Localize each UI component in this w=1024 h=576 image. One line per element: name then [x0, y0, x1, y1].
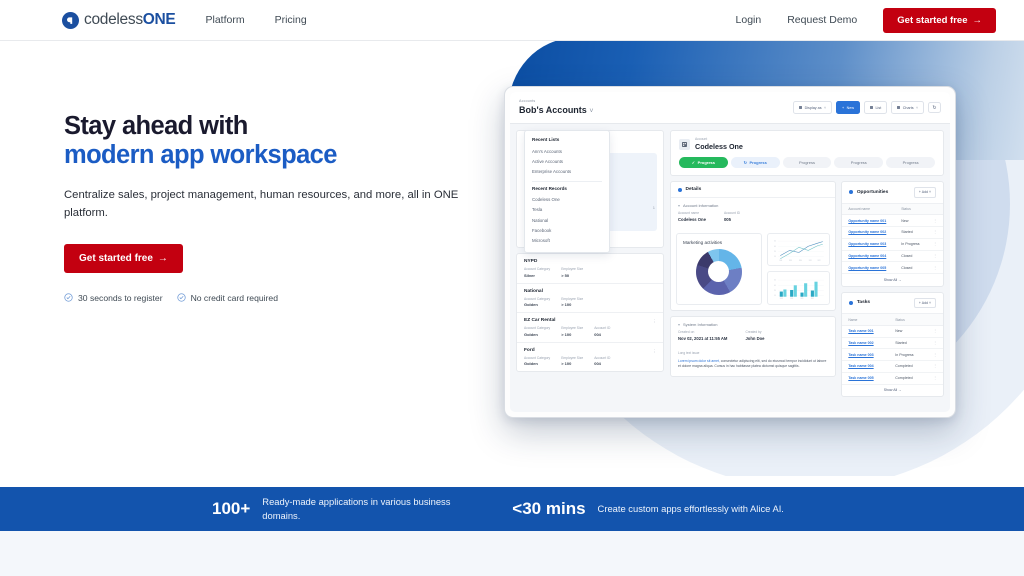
donut-chart: [696, 249, 742, 295]
svg-text:2019: 2019: [779, 298, 782, 300]
svg-text:2022: 2022: [817, 259, 820, 261]
table-row[interactable]: ⋮ Ford Account CategoryGolden Employee S…: [517, 343, 663, 372]
chevron-down-icon: ˅: [824, 106, 826, 110]
hero-cta-label: Get started free: [79, 253, 153, 264]
recent-record-item[interactable]: Microsoft: [532, 235, 602, 245]
opportunity-status: In Progress: [895, 238, 927, 250]
field-account-id: Account ID005: [724, 211, 740, 222]
svg-text:40: 40: [774, 245, 776, 247]
tasks-card: Tasks + Add ˅ Name Status Task name 001N…: [841, 292, 944, 398]
account-header: Account Codeless One: [671, 131, 943, 151]
refresh-icon: ↻: [932, 105, 936, 111]
tasks-title: Tasks: [857, 300, 870, 305]
section-label: System Information: [683, 322, 717, 327]
stage-label: Progress: [903, 160, 919, 165]
details-card: Details ▾ Account information Account na…: [670, 181, 836, 311]
row-menu-icon[interactable]: ⋮: [927, 349, 943, 361]
mockup-display-as-button[interactable]: Display as˅: [793, 101, 832, 114]
login-link[interactable]: Login: [736, 14, 762, 26]
stage-label: Progress: [749, 160, 766, 165]
header-get-started-button[interactable]: Get started free →: [883, 8, 996, 33]
opportunity-status: Closed: [895, 250, 927, 262]
record-field: Account ID004: [594, 356, 610, 367]
recent-record-item[interactable]: Codeless One: [532, 195, 602, 205]
chevron-down-icon: ▾: [678, 322, 680, 327]
marketing-activities-card: Marketing activities: [676, 233, 762, 306]
stage-pill-1[interactable]: ✓Progress: [679, 157, 728, 168]
field-label: Account ID: [594, 326, 610, 330]
mockup-left-column: 1 Recent Lists Ann's Accounts Active Acc…: [516, 130, 664, 406]
table-row[interactable]: Task name 002Started⋮: [842, 337, 943, 349]
page-title: Stay ahead with modern app workspace: [64, 112, 474, 169]
table-row[interactable]: Opportunity name 003In Progress⋮: [842, 238, 943, 250]
field-value: Nov 02, 2021 at 11:55 AM: [678, 336, 727, 341]
progress-stage-row: ✓Progress ↻Progress Progress Progress Pr…: [671, 151, 943, 175]
table-row[interactable]: Task name 003In Progress⋮: [842, 349, 943, 361]
charts-label: Charts: [903, 106, 914, 110]
logo[interactable]: codelessONE: [62, 11, 175, 29]
svg-text:2018: 2018: [779, 259, 782, 261]
opportunities-icon: [849, 190, 853, 194]
field-account-name: Account nameCodeless One: [678, 211, 706, 222]
chevron-down-icon: ▾: [678, 203, 680, 208]
chevron-down-icon: ˅: [589, 108, 593, 115]
field-label: Employee Size: [561, 267, 583, 271]
record-field: Employee Size> 100: [561, 297, 583, 308]
field-label: Account Category: [524, 297, 550, 301]
field-value: Codeless One: [678, 217, 706, 222]
marketing-charts-zone: Marketing activities: [671, 228, 835, 311]
tasks-show-all[interactable]: Show All →: [842, 385, 943, 397]
account-eyebrow: Account: [695, 137, 743, 141]
task-name[interactable]: Task name 001: [842, 325, 889, 337]
task-name[interactable]: Task name 002: [842, 337, 889, 349]
system-information-card: ▾ System Information Created onNov 02, 2…: [670, 316, 836, 377]
opportunities-show-all[interactable]: Show All →: [842, 274, 943, 286]
badge-register-time-label: 30 seconds to register: [78, 293, 163, 303]
field-value: Golden: [524, 302, 550, 307]
account-title-block: Account Codeless One: [695, 137, 743, 151]
svg-text:20: 20: [774, 250, 776, 252]
recent-lists-title: Recent Lists: [532, 137, 602, 142]
mockup-topbar: Accounts Bob's Accounts ˅ Display as˅ +N…: [510, 92, 950, 124]
stat-build-time-description: Create custom apps effortlessly with Ali…: [598, 502, 784, 516]
long-text-highlight: Lorem ipsum dolor sit amet,: [678, 359, 720, 363]
mockup-right-column: Account Codeless One ✓Progress ↻Progress…: [670, 130, 944, 406]
add-label: + Add: [919, 190, 928, 194]
opportunity-name[interactable]: Opportunity name 003: [842, 238, 895, 250]
stat-applications-description: Ready-made applications in various busin…: [262, 495, 452, 522]
task-status: Completed: [889, 372, 927, 384]
table-header-row: Name Status: [842, 314, 943, 325]
mockup-list-button[interactable]: List: [864, 101, 887, 114]
new-label: New: [847, 106, 854, 110]
record-field: Account CategoryGolden: [524, 297, 550, 308]
recent-record-item[interactable]: National: [532, 215, 602, 225]
refresh-icon: ↻: [744, 160, 747, 165]
stat-build-time-value: <30 mins: [512, 499, 585, 519]
stat-applications: 100+ Ready-made applications in various …: [212, 495, 452, 522]
field-label: Created on: [678, 330, 727, 334]
field-label: Account Category: [524, 356, 550, 360]
field-created-on: Created onNov 02, 2021 at 11:55 AM: [678, 330, 727, 341]
request-demo-link[interactable]: Request Demo: [787, 14, 857, 26]
table-row[interactable]: National Account CategoryGolden Employee…: [517, 284, 663, 314]
record-field: Account CategoryGolden: [524, 326, 550, 337]
table-row[interactable]: Task name 004Completed⋮: [842, 361, 943, 373]
field-value: > 100: [561, 361, 583, 366]
row-menu-icon[interactable]: ⋮: [927, 215, 943, 227]
table-row[interactable]: Opportunity name 001New⋮: [842, 215, 943, 227]
mockup-breadcrumb: Accounts Bob's Accounts ˅: [519, 100, 593, 115]
check-icon: ✓: [692, 160, 695, 165]
svg-text:10: 10: [774, 256, 776, 258]
recent-list-item[interactable]: Ann's Accounts: [532, 146, 602, 156]
table-row[interactable]: Task name 005Completed⋮: [842, 372, 943, 384]
related-lists-pane: Opportunities + Add ˅ Account name Statu…: [841, 181, 944, 406]
field-value: > 100: [561, 302, 583, 307]
account-detail-card: Account Codeless One ✓Progress ↻Progress…: [670, 130, 944, 176]
site-header: codelessONE Platform Pricing Login Reque…: [0, 0, 1024, 41]
add-label: + Add: [919, 301, 928, 305]
column-header-menu: [927, 314, 943, 325]
svg-text:2020: 2020: [790, 298, 793, 300]
system-information-section[interactable]: ▾ System Information: [671, 317, 835, 330]
tab-details[interactable]: Details: [686, 187, 702, 192]
placeholder-wash: [605, 153, 657, 231]
opportunities-title: Opportunities: [857, 190, 888, 195]
logo-text-light: codeless: [84, 11, 143, 28]
badge-no-credit-card: No credit card required: [177, 293, 278, 303]
task-name[interactable]: Task name 004: [842, 361, 889, 373]
chevron-down-icon: ˅: [916, 106, 918, 110]
nav-item-pricing[interactable]: Pricing: [275, 14, 307, 26]
details-pane: Details ▾ Account information Account na…: [670, 181, 836, 406]
arrow-right-icon: →: [158, 253, 168, 264]
field-label: Employee Size: [561, 297, 583, 301]
hero-heading-line2: modern app workspace: [64, 141, 474, 170]
field-value: 004: [594, 361, 610, 366]
field-value: Silver: [524, 273, 550, 278]
account-records-list: NYPD Account CategorySilver Employee Siz…: [516, 253, 664, 372]
recent-record-item[interactable]: Facebook: [532, 225, 602, 235]
row-menu-icon[interactable]: ⋮: [927, 361, 943, 373]
field-value: > 100: [561, 332, 583, 337]
long-text-label: Long text issue: [678, 351, 828, 355]
logo-text-bold: ONE: [143, 11, 176, 28]
opportunity-status: Closed: [895, 262, 927, 274]
record-field: Account CategorySilver: [524, 267, 550, 278]
marketing-activities-title: Marketing activities: [683, 240, 755, 245]
opportunity-name[interactable]: Opportunity name 005: [842, 262, 895, 274]
line-chart-card: 50402010 20182019202020212022: [767, 233, 831, 267]
table-row[interactable]: Opportunity name 005Closed⋮: [842, 262, 943, 274]
tasks-header: Tasks + Add ˅: [842, 293, 943, 315]
field-label: Account ID: [724, 211, 740, 215]
record-field: Account ID004: [594, 326, 610, 337]
column-header-menu: [927, 204, 943, 215]
field-value: 005: [724, 217, 740, 222]
hero-subtitle: Centralize sales, project management, hu…: [64, 186, 464, 223]
table-header-row: Account name Status: [842, 204, 943, 215]
check-circle-icon: [64, 293, 73, 302]
list-icon: [870, 106, 873, 109]
mockup-body: 1 Recent Lists Ann's Accounts Active Acc…: [510, 124, 950, 412]
mockup-title-text: Bob's Accounts: [519, 105, 587, 115]
field-label: Account name: [678, 211, 706, 215]
task-name[interactable]: Task name 005: [842, 372, 889, 384]
chevron-down-icon: ˅: [929, 301, 931, 305]
recent-records-title: Recent Records: [532, 186, 602, 191]
svg-text:2021: 2021: [808, 259, 811, 261]
record-name: Ford: [524, 348, 656, 353]
details-bullet-icon: [678, 188, 682, 192]
details-header: Details: [671, 182, 835, 198]
divider: [532, 181, 602, 182]
table-row[interactable]: Opportunity name 002Started⋮: [842, 226, 943, 238]
record-field: Employee Size> 100: [561, 326, 583, 337]
svg-text:20: 20: [774, 290, 776, 292]
plus-icon: +: [842, 106, 844, 110]
record-field: Employee Size> 100: [561, 356, 583, 367]
field-label: Employee Size: [561, 326, 583, 330]
svg-text:2021: 2021: [800, 298, 803, 300]
mini-charts-column: 50402010 20182019202020212022: [767, 233, 831, 306]
record-name: NYPD: [524, 259, 656, 264]
account-information-section[interactable]: ▾ Account information: [671, 198, 835, 211]
stage-pill-3[interactable]: Progress: [783, 157, 832, 168]
hero-get-started-button[interactable]: Get started free →: [64, 244, 183, 273]
line-chart: 50402010 20182019202020212022: [773, 238, 825, 262]
stat-build-time: <30 mins Create custom apps effortlessly…: [512, 499, 784, 519]
account-building-icon: [679, 139, 690, 150]
tasks-icon: [849, 301, 853, 305]
task-status: In Progress: [889, 349, 927, 361]
record-name: National: [524, 289, 656, 294]
opportunity-name[interactable]: Opportunity name 001: [842, 215, 895, 227]
recent-dropdown-panel: Recent Lists Ann's Accounts Active Accou…: [524, 130, 610, 253]
header-cta-label: Get started free: [897, 15, 967, 26]
field-value: 004: [594, 332, 610, 337]
badge-register-time: 30 seconds to register: [64, 293, 163, 303]
recent-list-item[interactable]: Enterprise Accounts: [532, 166, 602, 176]
stage-label: Progress: [698, 160, 715, 165]
table-row[interactable]: NYPD Account CategorySilver Employee Siz…: [517, 254, 663, 284]
logo-text: codelessONE: [84, 11, 175, 29]
table-row[interactable]: Task name 001New⋮: [842, 325, 943, 337]
task-status: Completed: [889, 361, 927, 373]
header-actions: Login Request Demo Get started free →: [736, 8, 996, 33]
check-circle-icon: [177, 293, 186, 302]
field-label: Created by: [745, 330, 764, 334]
opportunities-add-button[interactable]: + Add ˅: [914, 187, 936, 198]
field-label: Account Category: [524, 326, 550, 330]
row-menu-icon[interactable]: ⋮: [927, 337, 943, 349]
app-screenshot-mockup: Accounts Bob's Accounts ˅ Display as˅ +N…: [504, 86, 956, 418]
bar-chart: 50402010: [773, 276, 825, 300]
tasks-add-button[interactable]: + Add ˅: [914, 298, 936, 309]
mockup-toolbar: Display as˅ +New List Charts˅ ↻: [793, 101, 941, 114]
table-row[interactable]: Opportunity name 004Closed⋮: [842, 250, 943, 262]
chevron-down-icon: ˅: [929, 190, 931, 194]
display-as-label: Display as: [805, 106, 822, 110]
hero-badges: 30 seconds to register No credit card re…: [64, 293, 474, 303]
column-header-status: Status: [889, 314, 927, 325]
arrow-right-icon: →: [973, 15, 983, 26]
stage-pill-4[interactable]: Progress: [834, 157, 883, 168]
task-name[interactable]: Task name 003: [842, 349, 889, 361]
row-menu-icon[interactable]: ⋮: [927, 226, 943, 238]
primary-nav: Platform Pricing: [205, 14, 306, 26]
field-value: Golden: [524, 332, 550, 337]
hero-section: Stay ahead with modern app workspace Cen…: [64, 112, 474, 303]
row-menu-icon[interactable]: ⋮: [927, 262, 943, 274]
row-menu-icon[interactable]: ⋮: [653, 349, 658, 355]
recent-record-item[interactable]: Tesla: [532, 205, 602, 215]
svg-text:40: 40: [774, 285, 776, 287]
svg-text:2022: 2022: [810, 298, 813, 300]
codeless-logo-mark-icon: [62, 12, 79, 29]
field-created-by: Created byJohn Doe: [745, 330, 764, 341]
field-value: Golden: [524, 361, 550, 366]
task-status: Started: [889, 337, 927, 349]
column-header-name: Account name: [842, 204, 895, 215]
stats-bar: 100+ Ready-made applications in various …: [0, 487, 1024, 531]
grid-icon: [799, 106, 802, 109]
row-menu-icon[interactable]: ⋮: [927, 372, 943, 384]
opportunities-card: Opportunities + Add ˅ Account name Statu…: [841, 181, 944, 287]
opportunity-name[interactable]: Opportunity name 004: [842, 250, 895, 262]
long-text-block: Long text issue Lorem ipsum dolor sit am…: [671, 351, 835, 376]
row-menu-icon[interactable]: ⋮: [927, 325, 943, 337]
stage-pill-2[interactable]: ↻Progress: [731, 157, 780, 168]
mockup-panes: Details ▾ Account information Account na…: [670, 181, 944, 406]
row-menu-icon[interactable]: ⋮: [927, 238, 943, 250]
svg-text:2019: 2019: [789, 259, 792, 261]
account-information-fields: Account nameCodeless One Account ID005: [671, 211, 835, 228]
field-label: Account ID: [594, 356, 610, 360]
mockup-breadcrumb-title: Bob's Accounts ˅: [519, 106, 593, 115]
svg-text:10: 10: [774, 296, 776, 298]
field-value: John Doe: [745, 336, 764, 341]
nav-item-platform[interactable]: Platform: [205, 14, 244, 26]
chart-icon: [897, 106, 900, 109]
page-footer-strip: [0, 531, 1024, 576]
row-menu-icon[interactable]: ⋮: [927, 250, 943, 262]
record-field: Account CategoryGolden: [524, 356, 550, 367]
section-label: Account information: [683, 203, 718, 208]
opportunities-header: Opportunities + Add ˅: [842, 182, 943, 204]
list-label: List: [876, 106, 882, 110]
opportunities-table: Account name Status Opportunity name 001…: [842, 204, 943, 274]
row-menu-icon[interactable]: ⋮: [653, 319, 658, 325]
stage-label: Progress: [851, 160, 867, 165]
column-header-status: Status: [895, 204, 927, 215]
column-header-name: Name: [842, 314, 889, 325]
mockup-charts-button[interactable]: Charts˅: [891, 101, 924, 114]
mockup-new-button[interactable]: +New: [836, 101, 860, 114]
svg-text:50: 50: [774, 280, 776, 282]
svg-text:2020: 2020: [798, 259, 801, 261]
field-value: > 50: [561, 273, 583, 278]
recent-list-item[interactable]: Active Accounts: [532, 156, 602, 166]
mockup-breadcrumb-eyebrow: Accounts: [519, 100, 593, 104]
stage-pill-5[interactable]: Progress: [886, 157, 935, 168]
record-field: Employee Size> 50: [561, 267, 583, 278]
tasks-table: Name Status Task name 001New⋮ Task name …: [842, 314, 943, 384]
mockup-refresh-button[interactable]: ↻: [928, 102, 941, 113]
badge-no-credit-card-label: No credit card required: [191, 293, 278, 303]
bar-chart-card: 50402010: [767, 271, 831, 305]
field-label: Account Category: [524, 267, 550, 271]
opportunity-name[interactable]: Opportunity name 002: [842, 226, 895, 238]
task-status: New: [889, 325, 927, 337]
opportunity-status: Started: [895, 226, 927, 238]
account-name: Codeless One: [695, 142, 743, 151]
record-name: EZ Car Rental: [524, 318, 656, 323]
hero-heading-line1: Stay ahead with: [64, 112, 248, 140]
table-row[interactable]: ⋮ EZ Car Rental Account CategoryGolden E…: [517, 313, 663, 343]
field-label: Employee Size: [561, 356, 583, 360]
placeholder-count: 1: [653, 205, 655, 210]
system-information-fields: Created onNov 02, 2021 at 11:55 AM Creat…: [671, 330, 835, 347]
stat-applications-value: 100+: [212, 499, 250, 519]
opportunity-status: New: [895, 215, 927, 227]
long-text-body: Lorem ipsum dolor sit amet, consectetur …: [678, 359, 828, 370]
stage-label: Progress: [799, 160, 815, 165]
svg-text:50: 50: [774, 240, 776, 242]
